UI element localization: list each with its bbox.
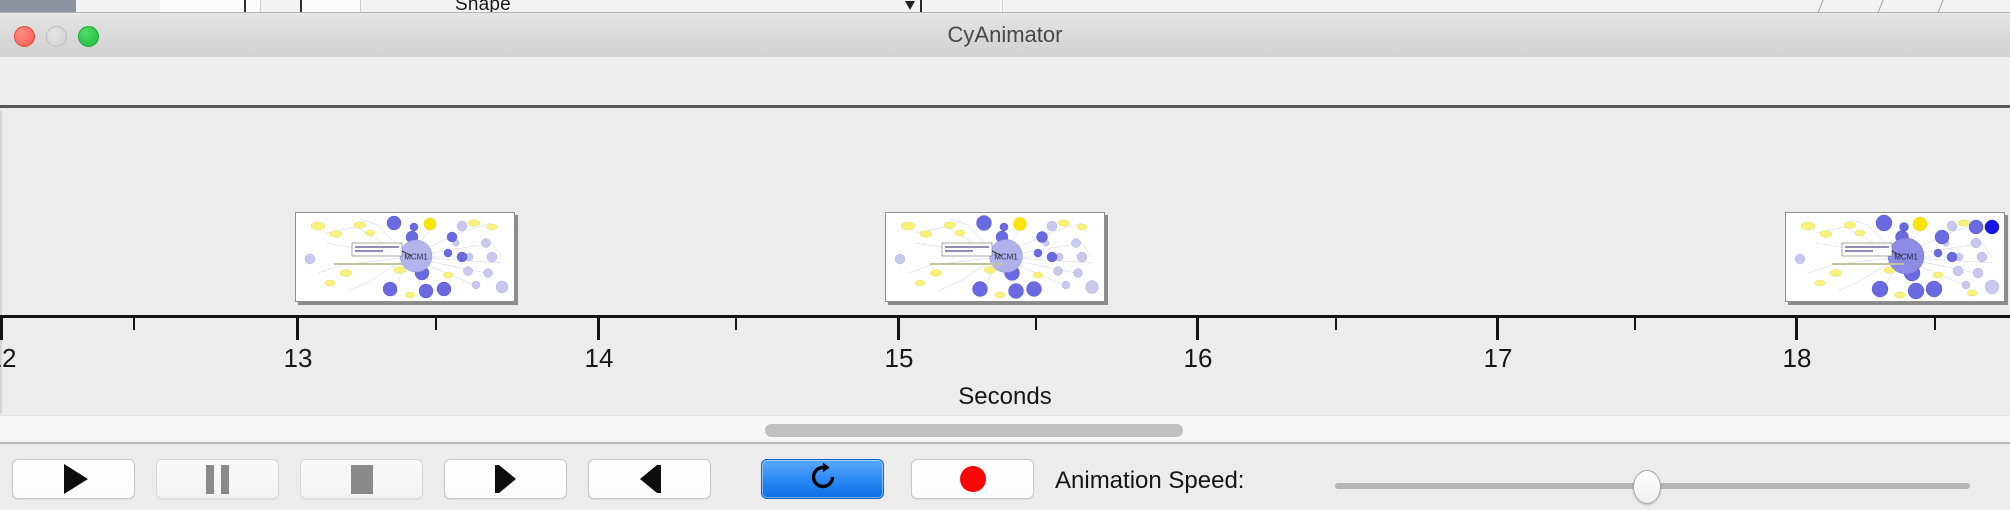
scrollbar-thumb[interactable]	[765, 424, 1183, 437]
play-button[interactable]	[12, 459, 135, 499]
animation-speed-slider[interactable]	[1335, 483, 1970, 489]
network-graph-preview: MCM1	[1786, 213, 2004, 301]
loop-icon	[808, 462, 838, 497]
ruler-tick-label: 17	[1484, 343, 1513, 374]
ruler-major-tick	[1496, 318, 1499, 340]
stop-icon	[351, 465, 373, 494]
network-graph-preview: MCM1	[296, 213, 514, 301]
frame-thumbnail[interactable]: MCM1	[1785, 212, 2005, 302]
background-window-strip: Shape	[0, 0, 2010, 13]
pause-icon	[206, 465, 229, 494]
ruler-tick-label: 15	[885, 343, 914, 374]
animation-speed-slider-thumb[interactable]	[1633, 470, 1661, 504]
frame-thumbnail[interactable]: MCM1	[295, 212, 515, 302]
ruler-major-tick	[296, 318, 299, 340]
pause-button[interactable]	[156, 459, 279, 499]
frame-toolbar: Clear All Frames	[0, 57, 2010, 108]
ruler-minor-tick	[735, 318, 737, 330]
ruler-minor-tick	[1335, 318, 1337, 330]
ruler-major-tick	[897, 318, 900, 340]
ruler-minor-tick	[133, 318, 135, 330]
animation-speed-label: Animation Speed:	[1055, 467, 1244, 495]
timeline-scrollbar[interactable]	[0, 415, 2010, 444]
timeline-ruler[interactable]: 12 13 14 15 16 17 18 Seconds	[0, 305, 2010, 415]
playback-control-bar: Animation Speed:	[0, 445, 2010, 510]
record-icon	[960, 466, 986, 492]
ruler-tick-label: 12	[0, 343, 16, 374]
annotation-box	[1842, 243, 1892, 256]
background-arrow-icon	[905, 1, 915, 10]
skip-to-end-button[interactable]	[588, 459, 711, 499]
window-titlebar[interactable]: CyAnimator	[0, 13, 2010, 58]
ruler-minor-tick	[1035, 318, 1037, 330]
annotation-box	[942, 243, 992, 256]
ruler-tick-label: 14	[585, 343, 614, 374]
ruler-tick-label: 16	[1184, 343, 1213, 374]
play-icon	[64, 464, 88, 494]
loop-button[interactable]	[761, 459, 884, 499]
ruler-major-tick	[1795, 318, 1798, 340]
ruler-major-tick	[0, 318, 3, 340]
ruler-tick-label: 18	[1783, 343, 1812, 374]
cyanimator-window: Shape CyAnimator Clear All Fra	[0, 0, 2010, 510]
ruler-tick-label: 13	[284, 343, 313, 374]
network-graph-preview: MCM1	[886, 213, 1104, 301]
ruler-minor-tick	[435, 318, 437, 330]
highlight-node	[1985, 220, 1999, 234]
skip-to-start-button[interactable]	[444, 459, 567, 499]
ruler-major-tick	[597, 318, 600, 340]
skip-to-end-icon	[635, 464, 665, 494]
window-title: CyAnimator	[0, 13, 2010, 57]
skip-to-start-icon	[491, 464, 521, 494]
ruler-axis-line	[0, 315, 2010, 318]
ruler-minor-tick	[1634, 318, 1636, 330]
ruler-minor-tick	[1934, 318, 1936, 330]
frame-thumbnail[interactable]: MCM1	[885, 212, 1105, 302]
ruler-unit-label: Seconds	[0, 383, 2010, 411]
record-button[interactable]	[911, 459, 1034, 499]
stop-button[interactable]	[300, 459, 423, 499]
ruler-major-tick	[1196, 318, 1199, 340]
annotation-box	[352, 243, 402, 256]
